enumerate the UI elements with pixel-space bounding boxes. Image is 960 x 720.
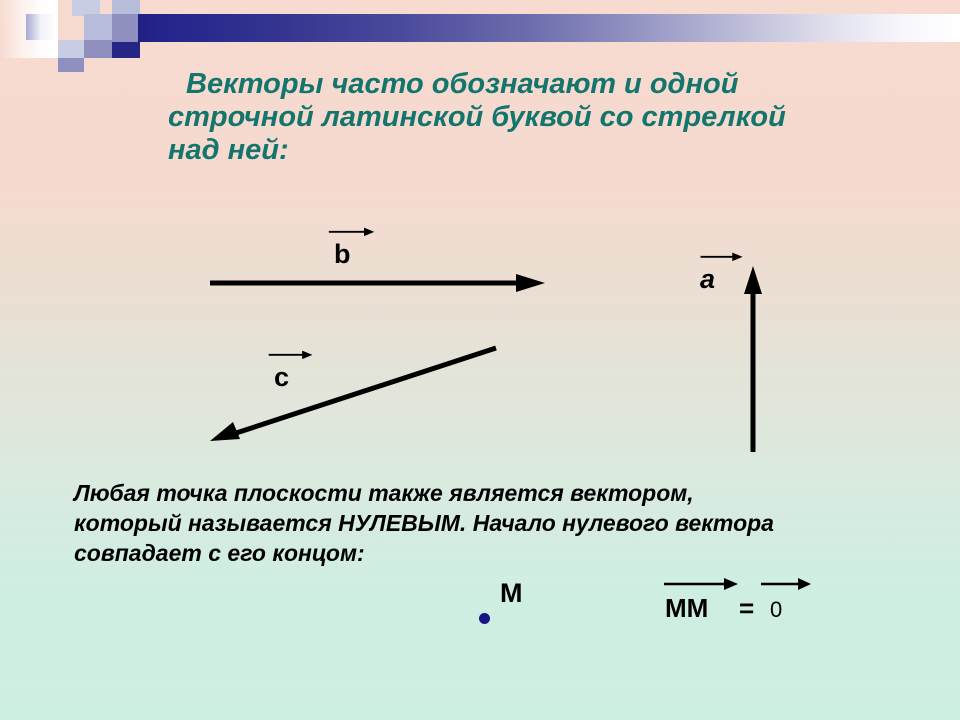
vector-label-c: c — [274, 364, 289, 391]
formula-overline-arrow-zero — [760, 575, 812, 591]
formula-overline-arrow-mm — [663, 575, 739, 591]
formula-vector-mm: MM — [665, 595, 708, 621]
vector-a-arrow — [736, 266, 770, 456]
deco-square-7 — [112, 42, 140, 58]
vector-overline-arrow-c — [264, 348, 318, 360]
vector-label-b: b — [334, 241, 351, 268]
deco-square-2 — [112, 0, 140, 14]
vector-a-letter: a — [700, 264, 715, 294]
point-label-m: M — [500, 580, 523, 607]
header-decoration — [0, 0, 960, 58]
point-dot-m — [479, 613, 490, 624]
header-gradient-bar — [112, 14, 960, 42]
slide-canvas: Векторы часто обозначают и одной строчно… — [0, 0, 960, 720]
deco-white-fade — [0, 0, 58, 58]
slide-title: Векторы часто обозначают и одной строчно… — [168, 68, 828, 167]
deco-square-4 — [112, 14, 138, 42]
body-line-2: который называется НУЛЕВЫМ. Начало нулев… — [74, 508, 894, 538]
vector-c-letter: c — [274, 362, 289, 392]
formula-zero: 0 — [770, 599, 782, 621]
deco-square-5 — [58, 40, 84, 58]
body-line-3: совпадает с его концом: — [74, 538, 894, 568]
deco-square-6 — [84, 40, 112, 58]
body-paragraph: Любая точка плоскости также является век… — [74, 478, 894, 568]
vector-overline-arrow-b — [324, 225, 380, 237]
vector-c-arrow — [200, 340, 500, 450]
vector-label-a: a — [700, 266, 715, 293]
deco-square-8 — [58, 58, 84, 72]
body-line-1: Любая точка плоскости также является век… — [74, 478, 894, 508]
title-line-1: Векторы часто обозначают и одной — [168, 68, 828, 101]
vector-b-letter: b — [334, 239, 351, 269]
vector-b-arrow — [200, 268, 550, 298]
title-line-3: над ней: — [168, 134, 828, 167]
formula-equals: = — [739, 595, 754, 621]
deco-square-3 — [84, 14, 112, 42]
vector-overline-arrow-a — [696, 250, 748, 262]
title-line-2: строчной латинской буквой со стрелкой — [168, 101, 828, 134]
